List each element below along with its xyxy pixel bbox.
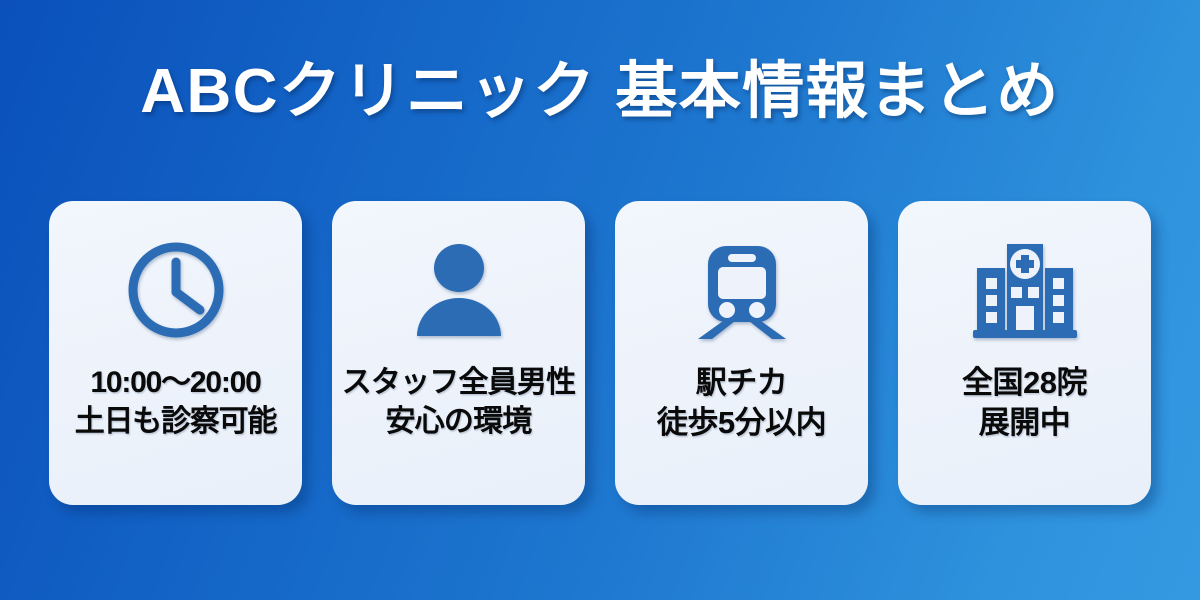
clock-icon [124, 231, 228, 349]
title-area: ABCクリニック 基本情報まとめ [0, 0, 1200, 185]
feature-card-text: 駅チカ 徒歩5分以内 [621, 363, 862, 444]
feature-card-branches[interactable]: 全国28院 展開中 [898, 201, 1151, 505]
card-line-1: 駅チカ [621, 363, 862, 403]
feature-card-station[interactable]: 駅チカ 徒歩5分以内 [615, 201, 868, 505]
card-line-1: 全国28院 [904, 363, 1145, 403]
card-line-1: 10:00〜20:00 [55, 363, 296, 402]
card-line-2: 展開中 [904, 403, 1145, 443]
card-line-2: 徒歩5分以内 [621, 403, 862, 443]
page-title: ABCクリニック 基本情報まとめ [140, 58, 1060, 126]
card-line-1: スタッフ全員男性 [338, 363, 579, 402]
card-line-2: 安心の環境 [338, 402, 579, 441]
train-icon [690, 231, 794, 349]
poster-root: ABCクリニック 基本情報まとめ 10:00〜20:00 土日も診察可能 [0, 0, 1200, 600]
feature-card-hours[interactable]: 10:00〜20:00 土日も診察可能 [49, 201, 302, 505]
person-icon [407, 231, 511, 349]
feature-card-staff[interactable]: スタッフ全員男性 安心の環境 [332, 201, 585, 505]
hospital-icon [969, 231, 1081, 349]
feature-card-text: 全国28院 展開中 [904, 363, 1145, 444]
feature-card-text: スタッフ全員男性 安心の環境 [338, 363, 579, 441]
feature-card-row: 10:00〜20:00 土日も診察可能 スタッフ全員男性 安心の環境 [49, 201, 1151, 505]
feature-card-text: 10:00〜20:00 土日も診察可能 [55, 363, 296, 441]
card-line-2: 土日も診察可能 [55, 402, 296, 441]
